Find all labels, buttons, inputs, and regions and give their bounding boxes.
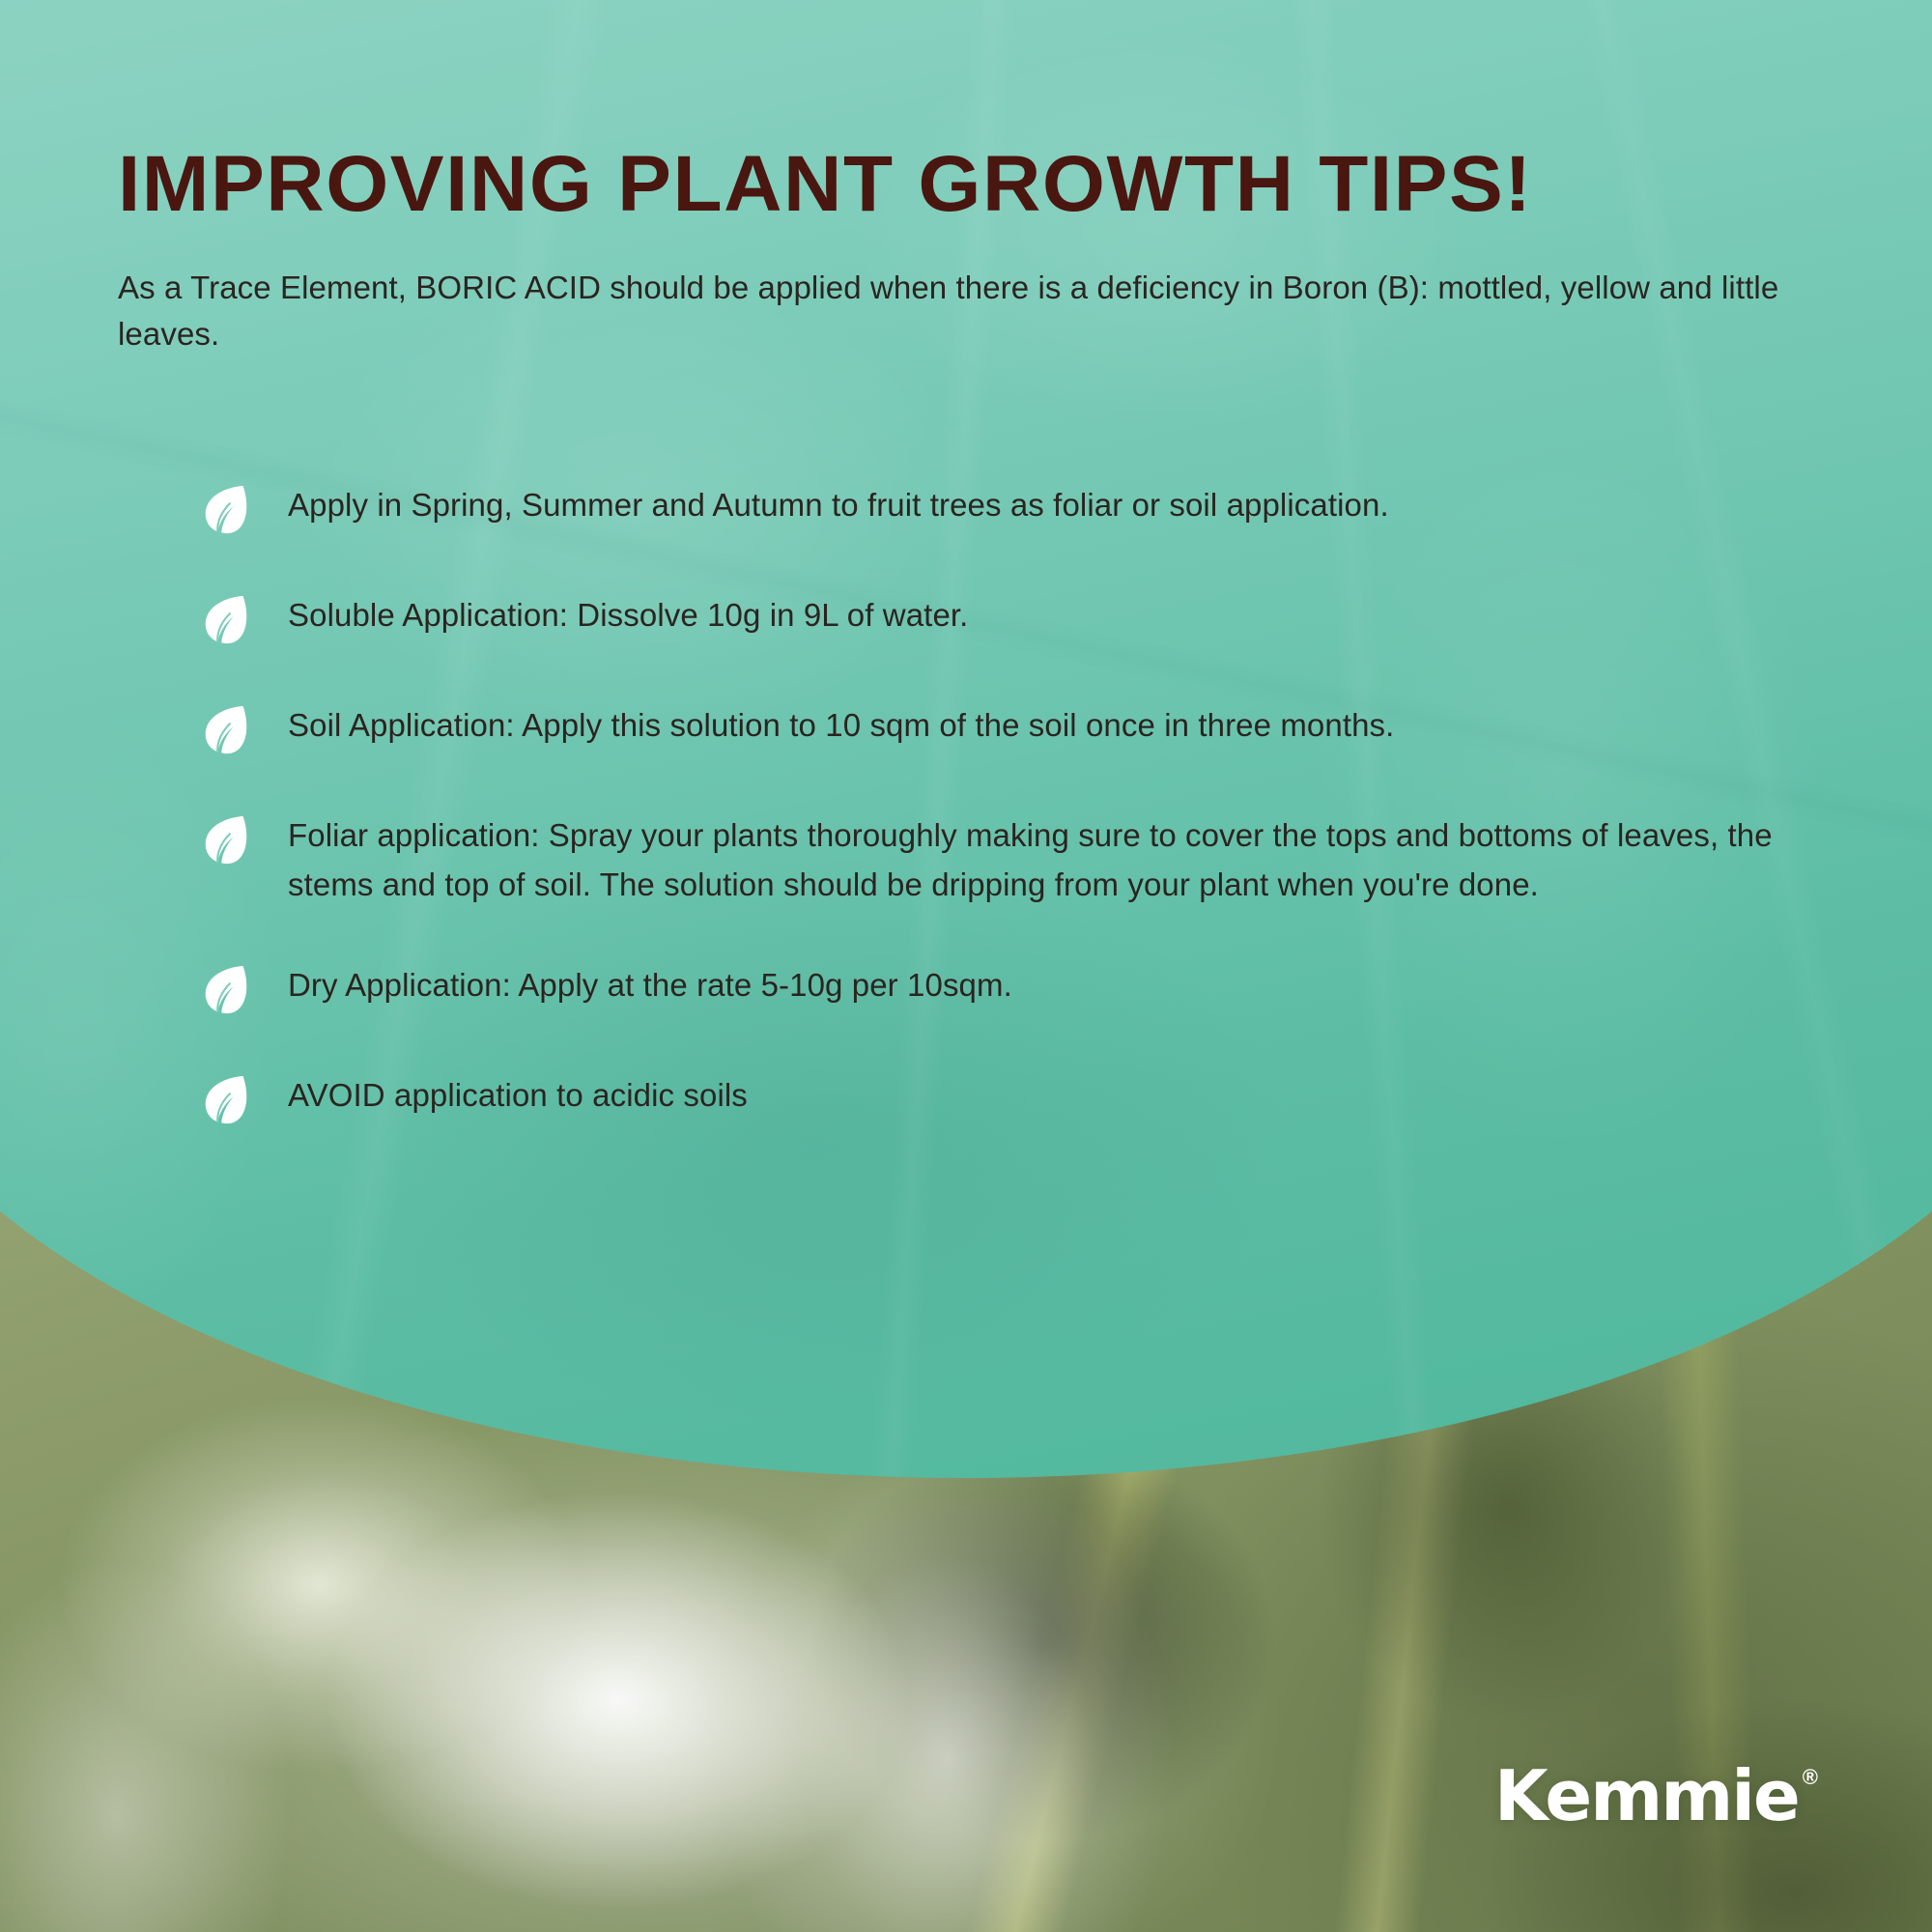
list-item-label: AVOID application to acidic soils bbox=[288, 1071, 748, 1120]
leaf-icon bbox=[201, 483, 251, 539]
list-item-label: Soil Application: Apply this solution to… bbox=[288, 701, 1394, 750]
list-item: Foliar application: Spray your plants th… bbox=[201, 811, 1816, 908]
leaf-icon bbox=[201, 1073, 251, 1129]
list-item: Soluble Application: Dissolve 10g in 9L … bbox=[201, 591, 1816, 649]
leaf-icon bbox=[201, 703, 251, 759]
list-item: AVOID application to acidic soils bbox=[201, 1071, 1816, 1129]
brand-name: Kemmie bbox=[1494, 1761, 1799, 1831]
tips-list: Apply in Spring, Summer and Autumn to fr… bbox=[118, 481, 1816, 1128]
list-item: Dry Application: Apply at the rate 5-10g… bbox=[201, 961, 1816, 1019]
poster-canvas: IMPROVING PLANT GROWTH TIPS! As a Trace … bbox=[0, 0, 1932, 1932]
leaf-icon bbox=[201, 963, 251, 1019]
brand-logo: Kemmie ® bbox=[1494, 1761, 1818, 1831]
poster-content: IMPROVING PLANT GROWTH TIPS! As a Trace … bbox=[0, 0, 1932, 1129]
registered-trademark-icon: ® bbox=[1803, 1767, 1818, 1788]
page-title: IMPROVING PLANT GROWTH TIPS! bbox=[118, 145, 1850, 224]
list-item-label: Apply in Spring, Summer and Autumn to fr… bbox=[288, 481, 1389, 529]
list-item: Apply in Spring, Summer and Autumn to fr… bbox=[201, 481, 1816, 539]
leaf-icon bbox=[201, 593, 251, 649]
list-item-label: Foliar application: Spray your plants th… bbox=[288, 811, 1816, 908]
list-item-label: Soluble Application: Dissolve 10g in 9L … bbox=[288, 591, 968, 639]
intro-paragraph: As a Trace Element, BORIC ACID should be… bbox=[118, 265, 1816, 357]
list-item: Soil Application: Apply this solution to… bbox=[201, 701, 1816, 759]
leaf-icon bbox=[201, 813, 251, 869]
list-item-label: Dry Application: Apply at the rate 5-10g… bbox=[288, 961, 1012, 1009]
